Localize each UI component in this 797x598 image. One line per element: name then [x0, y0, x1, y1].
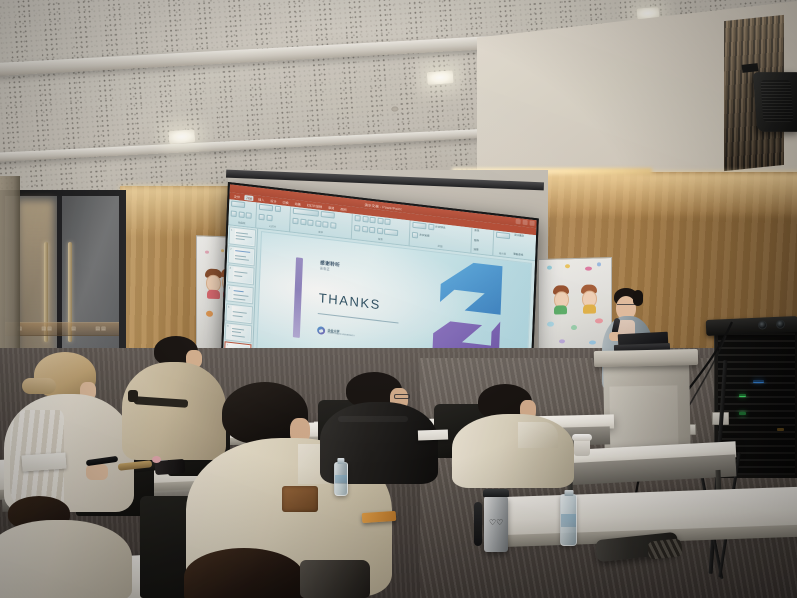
bottle-label: [335, 475, 347, 483]
align-left-button[interactable]: [354, 224, 360, 231]
section-button[interactable]: [266, 214, 272, 221]
wall-wash-glow: [120, 186, 230, 236]
hood: [518, 422, 558, 448]
attendee-ponytail: [22, 378, 56, 394]
sticker-body: [583, 304, 596, 313]
brand-mark-icon: [317, 326, 325, 335]
eyeglasses-icon: [394, 394, 410, 399]
jacket-seam: [338, 416, 408, 422]
water-bottle[interactable]: [560, 494, 577, 546]
paper-notebook[interactable]: [418, 429, 448, 440]
slide-logo: 企业大学 CORPORATE UNIVERSITY: [317, 326, 355, 338]
door-band-text: ▤▤▤▤▤▤: [8, 324, 116, 334]
strikethrough-button[interactable]: [322, 221, 328, 228]
design-ideas-button[interactable]: [496, 232, 510, 240]
thumbnail-preview: [231, 325, 250, 341]
thermos-lid: [483, 489, 509, 497]
tab-review[interactable]: 审阅: [327, 205, 336, 211]
indent-increase-button[interactable]: [377, 218, 383, 225]
sticker-blob: [547, 266, 552, 270]
thermos-strap: [474, 502, 482, 546]
align-right-button[interactable]: [369, 226, 375, 233]
quick-styles-button[interactable]: [412, 231, 418, 238]
tab-home[interactable]: 开始: [244, 195, 253, 201]
sticker-blob: [559, 339, 565, 343]
tab-design[interactable]: 设计: [269, 198, 278, 204]
backpack[interactable]: [300, 560, 370, 598]
slide-accent-bar: [293, 257, 303, 338]
copy-button[interactable]: [238, 211, 244, 218]
ribbon-group-clipboard[interactable]: 粘贴板: [228, 199, 257, 227]
cut-button[interactable]: [231, 210, 237, 217]
sticker-blob: [206, 311, 213, 317]
restore-icon[interactable]: [523, 220, 528, 226]
tab-insert[interactable]: 插入: [257, 196, 266, 202]
ribbon-group-label: 设计器: [495, 251, 509, 257]
umbrella-folds: [647, 538, 683, 559]
shapes-gallery[interactable]: [412, 222, 426, 230]
align-center-button[interactable]: [362, 225, 368, 232]
shape-fill-label: 形状填充: [435, 226, 445, 231]
sticker-blob: [571, 325, 577, 330]
thumbnail-preview: [235, 229, 254, 245]
format-painter-button[interactable]: [246, 212, 252, 219]
thumbnail-number: 5: [227, 305, 231, 319]
window-buttons[interactable]: [516, 219, 535, 226]
reset-button[interactable]: [259, 213, 265, 220]
sticker-blob: [589, 340, 596, 344]
thumbnail-number: 4: [228, 286, 232, 300]
italic-button[interactable]: [300, 218, 306, 225]
conference-room-photo: ▤▤▤▤▤▤ 演示文稿 -: [0, 0, 797, 598]
sticker-blob: [205, 251, 209, 254]
tab-file[interactable]: 文件: [232, 194, 241, 200]
slide-divider: [318, 313, 399, 323]
bottle-cap: [564, 490, 573, 496]
underline-button[interactable]: [307, 219, 313, 226]
slide-logo-text: 企业大学 CORPORATE UNIVERSITY: [327, 328, 355, 338]
arrange-button[interactable]: [428, 224, 434, 231]
font-size-select[interactable]: [320, 211, 334, 219]
thumbnail-number: 1: [231, 229, 235, 243]
slide-thumbnail[interactable]: 3: [227, 265, 255, 286]
slide-heading: 感谢聆听 请指正: [320, 260, 340, 272]
cup-lid: [572, 434, 592, 441]
eyeglasses-icon: [617, 304, 635, 308]
minimize-icon[interactable]: [516, 219, 521, 225]
stainless-thermos[interactable]: ♡♡: [484, 496, 508, 552]
water-bottle[interactable]: [334, 462, 348, 496]
shape-outline-label: 形状轮廓: [419, 233, 429, 238]
sticker-blob: [597, 262, 601, 266]
ribbon-group-extra[interactable]: 设计理念 智能查找: [511, 232, 536, 260]
tab-transitions[interactable]: 切换: [281, 199, 290, 205]
font-color-button[interactable]: [330, 222, 336, 229]
jacket-zip: [128, 390, 138, 402]
find-label[interactable]: 查找: [474, 229, 491, 235]
line-spacing-button[interactable]: [384, 218, 390, 225]
sticker-blob: [585, 267, 592, 271]
bold-button[interactable]: [292, 217, 298, 224]
tab-animations[interactable]: 动画: [293, 201, 302, 207]
tab-view[interactable]: 视图: [339, 206, 348, 212]
thumbnail-preview: [233, 267, 252, 283]
designer-idea-label[interactable]: 设计理念: [514, 234, 534, 240]
downlight-icon: [168, 129, 195, 144]
select-label[interactable]: 选择: [473, 248, 490, 254]
justify-button[interactable]: [377, 227, 383, 234]
thumbnail-preview: [232, 287, 251, 303]
ribbon-group-slides[interactable]: 幻灯片: [256, 202, 291, 231]
sticker-body: [554, 305, 567, 314]
bottle-cap: [337, 458, 344, 464]
attendee-hand: [86, 464, 108, 480]
attendee-bottom-left: [0, 496, 136, 598]
wall-speaker: [753, 72, 797, 132]
leather-logo-patch: [282, 486, 318, 512]
replace-label[interactable]: 替换: [474, 239, 491, 245]
attendee-coat: [0, 520, 132, 598]
thumbnail-number: 2: [230, 248, 234, 262]
ribbon-group-designer[interactable]: 设计器: [493, 230, 512, 257]
sticker-blob: [221, 249, 224, 252]
convert-smartart-button[interactable]: [384, 228, 398, 236]
close-icon[interactable]: [529, 220, 534, 226]
slide-logo-subtitle: CORPORATE UNIVERSITY: [327, 332, 354, 338]
slide-thumbnail[interactable]: 1: [229, 226, 257, 247]
bottle-label: [561, 514, 576, 527]
slide-thumbnail[interactable]: 5: [225, 303, 253, 324]
phone-charm: [152, 456, 161, 463]
ribbon-group-editing[interactable]: 查找 替换 选择: [471, 228, 494, 256]
attendee-bottom-center: [178, 548, 310, 598]
sticker-body: [207, 290, 220, 299]
attendee-hoodie: [452, 414, 574, 488]
paste-button[interactable]: [231, 200, 245, 208]
slide-thumbnail[interactable]: 2: [228, 246, 256, 267]
thermos-sticker: ♡♡: [489, 518, 503, 536]
slide-thumbnail[interactable]: 4: [226, 284, 254, 305]
thumbnail-preview: [234, 248, 253, 264]
thumbnail-preview: [231, 306, 250, 322]
downlight-icon: [427, 70, 454, 85]
sticker-blob: [547, 322, 554, 327]
new-slide-button[interactable]: [259, 204, 273, 212]
layout-button[interactable]: [274, 206, 280, 213]
sticker-blob: [565, 264, 570, 268]
indent-decrease-button[interactable]: [369, 217, 375, 224]
camera-lens-icon: [776, 320, 785, 329]
paper-notebook[interactable]: [21, 452, 66, 471]
numbering-button[interactable]: [362, 216, 368, 223]
bullets-button[interactable]: [355, 215, 361, 222]
shadow-button[interactable]: [315, 220, 321, 227]
thumbnail-number: 3: [229, 267, 233, 281]
podium-top: [594, 349, 698, 367]
font-family-select[interactable]: [293, 208, 319, 217]
camera-lens-icon: [758, 320, 767, 329]
presenter-ponytail: [633, 290, 643, 306]
attendee-hair: [184, 548, 304, 598]
slide-big-text: THANKS: [319, 290, 382, 312]
attendee-right: [452, 384, 578, 488]
